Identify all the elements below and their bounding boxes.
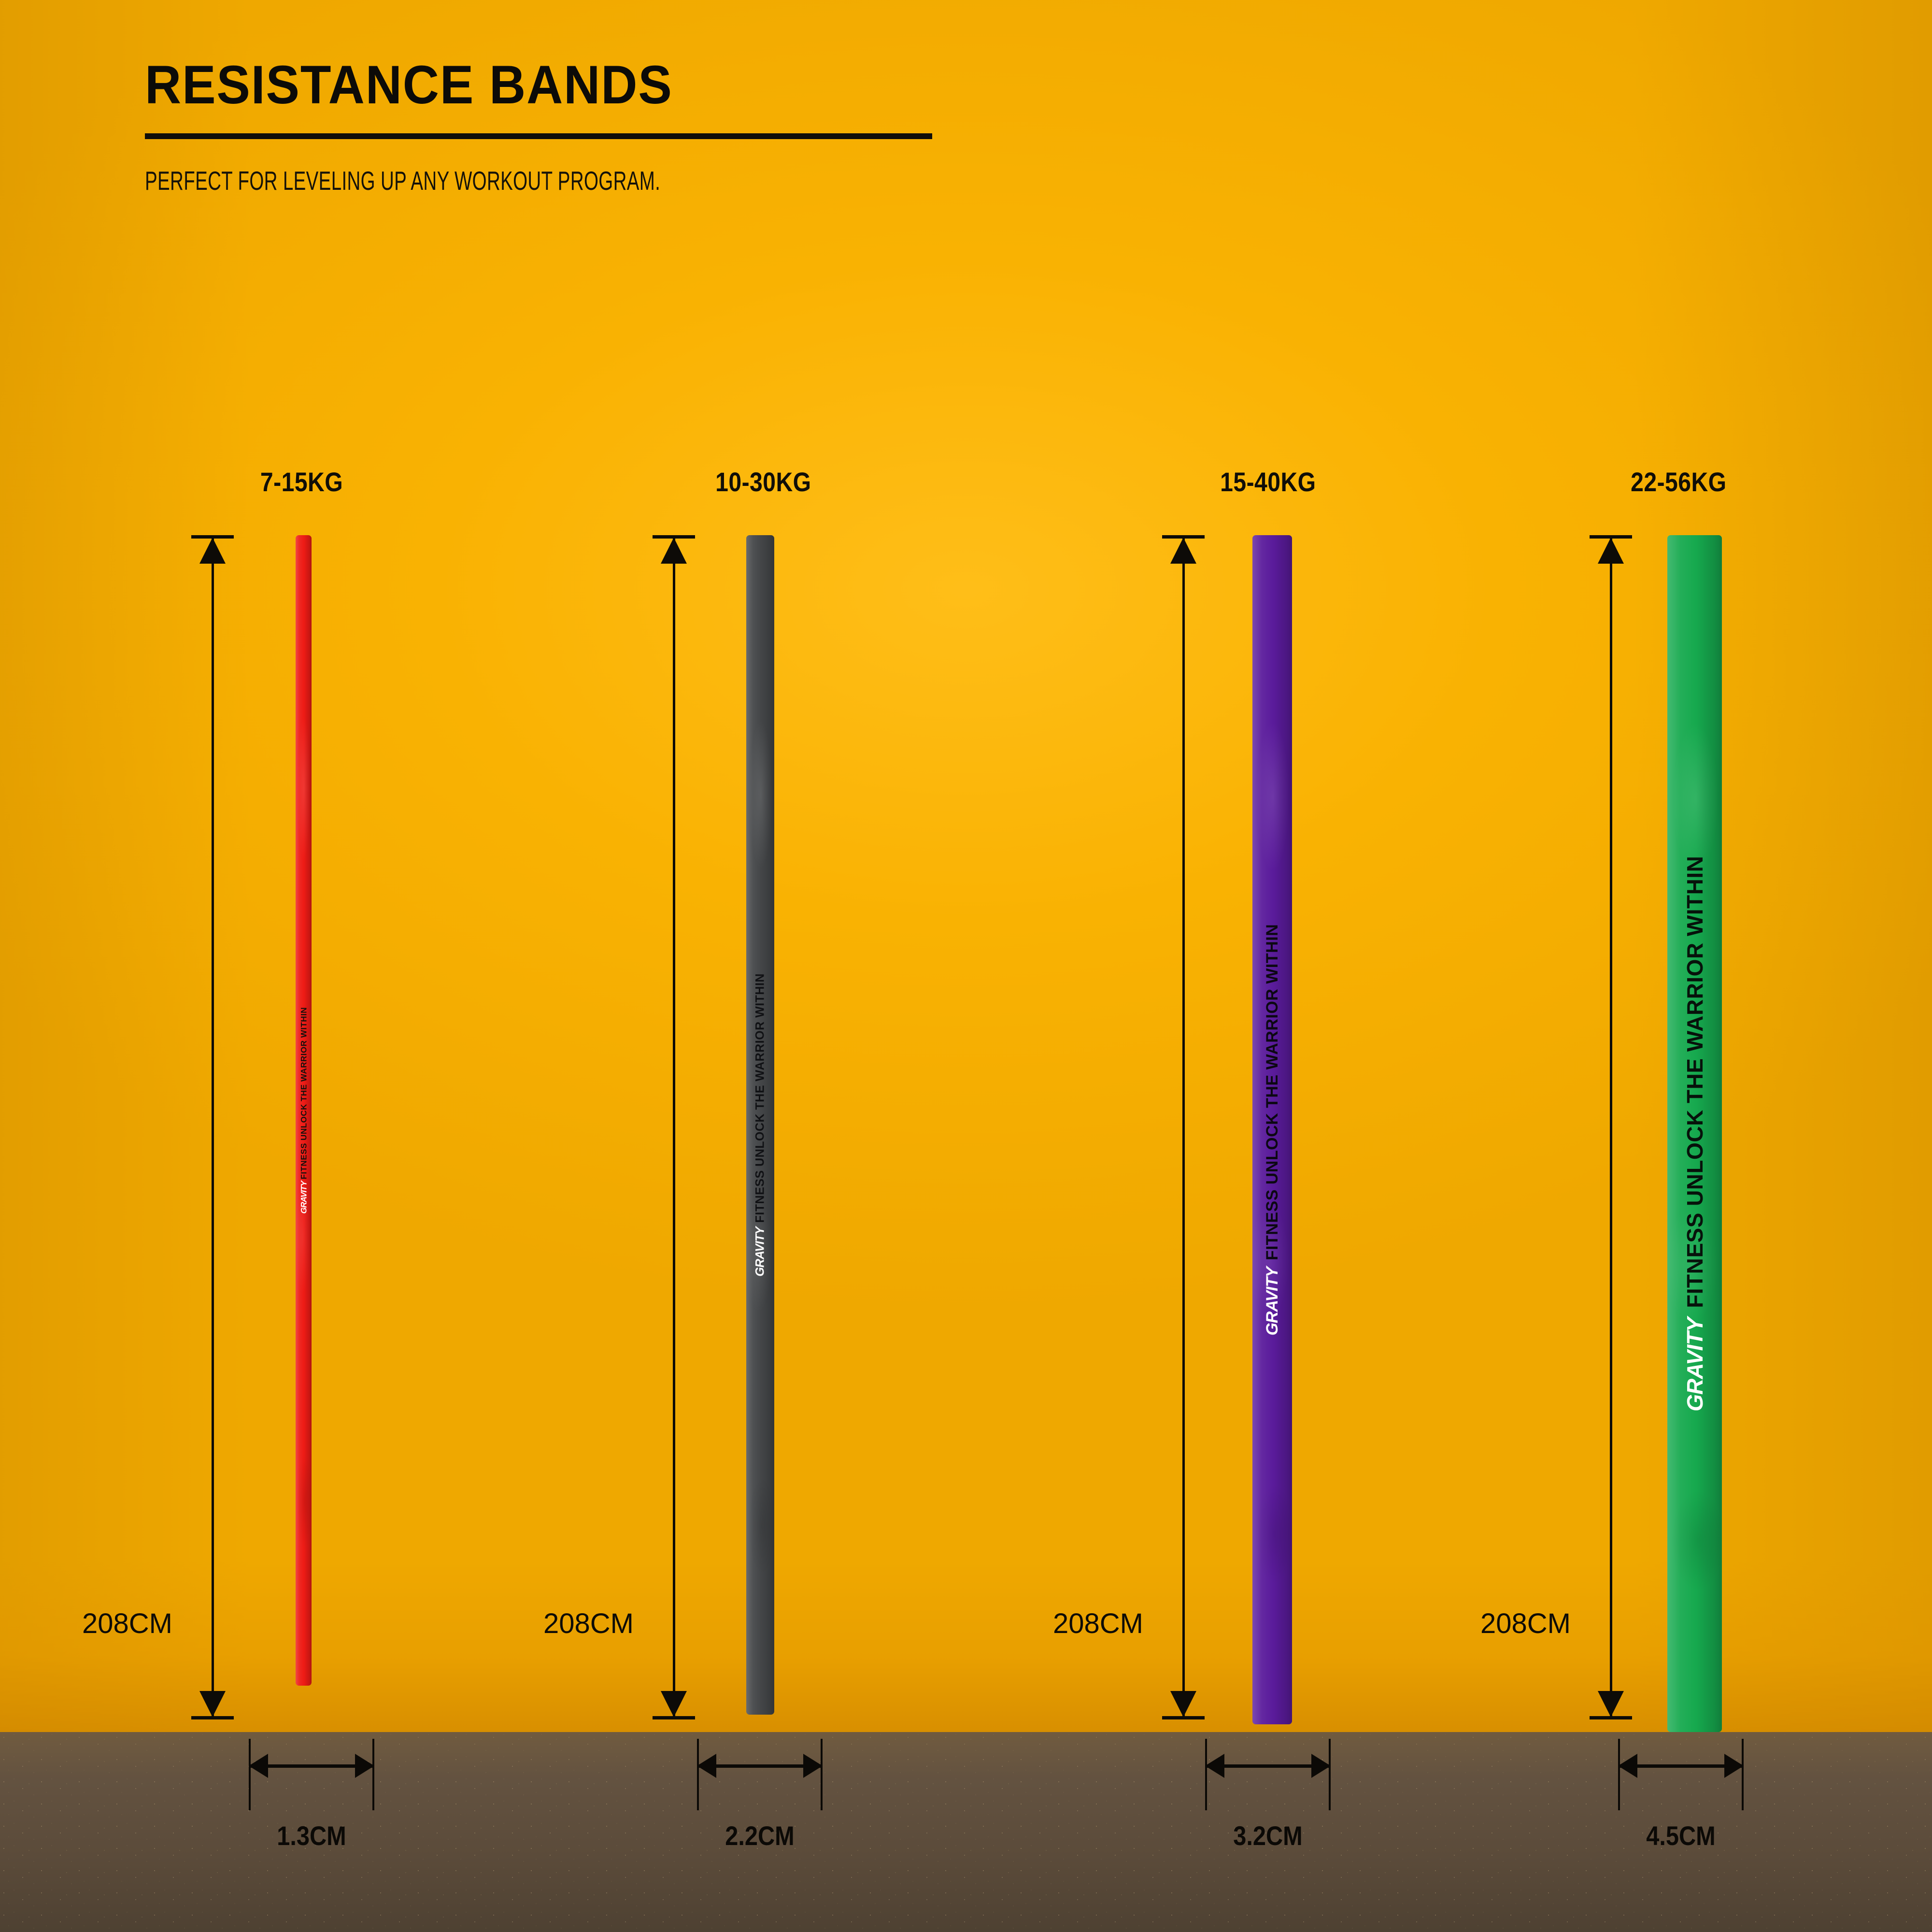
arrow-up-icon (1170, 538, 1196, 564)
band-branding-red-band: GRAVITY FITNESS UNLOCK THE WARRIOR WITHI… (299, 1007, 308, 1214)
arrow-left-icon (697, 1754, 716, 1778)
gravity-logo-text: GRAVITY (1264, 1267, 1280, 1335)
gravity-logo-text: GRAVITY (1684, 1318, 1706, 1411)
width-dimension-grey-band: 2.2CM (697, 1739, 823, 1811)
dimension-line (1610, 535, 1612, 1719)
length-dimension-green-band: 208CM (1589, 535, 1633, 1719)
grey-band[interactable]: GRAVITY FITNESS UNLOCK THE WARRIOR WITHI… (746, 535, 774, 1715)
red-band[interactable]: GRAVITY FITNESS UNLOCK THE WARRIOR WITHI… (296, 535, 312, 1686)
infographic-stage: RESISTANCE BANDS PERFECT FOR LEVELING UP… (0, 0, 1932, 1932)
arrow-left-icon (1618, 1754, 1637, 1778)
dimension-cap-bottom (653, 1716, 695, 1719)
length-dimension-purple-band: 208CM (1162, 535, 1205, 1719)
arrow-left-icon (1205, 1754, 1224, 1778)
length-dimension-grey-band: 208CM (652, 535, 696, 1719)
length-label-green-band: 208CM (1480, 1607, 1571, 1640)
wall-lower-glow (0, 1560, 1932, 1734)
title-divider (145, 133, 932, 139)
page-title: RESISTANCE BANDS (145, 58, 891, 112)
dimension-line (1182, 535, 1185, 1719)
arrow-up-icon (199, 538, 226, 564)
width-dimension-red-band: 1.3CM (249, 1739, 374, 1811)
header-block: RESISTANCE BANDS PERFECT FOR LEVELING UP… (145, 58, 947, 196)
arrow-right-icon (1311, 1754, 1331, 1778)
arrow-down-icon (1170, 1691, 1196, 1717)
dimension-cap-bottom (1162, 1716, 1205, 1719)
green-band[interactable]: GRAVITY FITNESS UNLOCK THE WARRIOR WITHI… (1667, 535, 1722, 1732)
width-label-green-band: 4.5CM (1646, 1820, 1715, 1851)
width-dimension-green-band: 4.5CM (1618, 1739, 1744, 1811)
resistance-label-grey-band: 10-30KG (715, 466, 811, 497)
length-label-purple-band: 208CM (1053, 1607, 1143, 1640)
resistance-label-red-band: 7-15KG (260, 466, 343, 497)
gravity-logo-text: GRAVITY (754, 1227, 767, 1277)
band-branding-grey-band: GRAVITY FITNESS UNLOCK THE WARRIOR WITHI… (754, 973, 767, 1277)
dimension-line (673, 535, 675, 1719)
arrow-up-icon (661, 538, 687, 564)
dimension-cap-bottom (1590, 1716, 1632, 1719)
length-label-grey-band: 208CM (543, 1607, 634, 1640)
length-dimension-red-band: 208CM (191, 535, 234, 1719)
width-label-purple-band: 3.2CM (1233, 1820, 1302, 1851)
purple-band[interactable]: GRAVITY FITNESS UNLOCK THE WARRIOR WITHI… (1252, 535, 1292, 1724)
arrow-down-icon (199, 1691, 226, 1717)
width-dimension-purple-band: 3.2CM (1205, 1739, 1331, 1811)
band-tagline-text: FITNESS UNLOCK THE WARRIOR WITHIN (1684, 856, 1706, 1308)
resistance-label-green-band: 22-56KG (1631, 466, 1726, 497)
arrow-right-icon (1724, 1754, 1744, 1778)
dimension-line (212, 535, 214, 1719)
arrow-up-icon (1598, 538, 1624, 564)
band-tagline-text: FITNESS UNLOCK THE WARRIOR WITHIN (1264, 924, 1280, 1260)
arrow-left-icon (249, 1754, 268, 1778)
arrow-down-icon (1598, 1691, 1624, 1717)
arrow-down-icon (661, 1691, 687, 1717)
gravity-logo-text: GRAVITY (299, 1181, 308, 1214)
arrow-right-icon (355, 1754, 374, 1778)
length-label-red-band: 208CM (82, 1607, 172, 1640)
arrow-right-icon (803, 1754, 823, 1778)
band-branding-purple-band: GRAVITY FITNESS UNLOCK THE WARRIOR WITHI… (1264, 924, 1280, 1335)
band-tagline-text: FITNESS UNLOCK THE WARRIOR WITHIN (299, 1007, 308, 1179)
band-tagline-text: FITNESS UNLOCK THE WARRIOR WITHIN (754, 973, 767, 1222)
page-subtitle: PERFECT FOR LEVELING UP ANY WORKOUT PROG… (145, 165, 706, 196)
band-branding-green-band: GRAVITY FITNESS UNLOCK THE WARRIOR WITHI… (1684, 856, 1706, 1412)
width-label-red-band: 1.3CM (277, 1820, 346, 1851)
dimension-cap-bottom (191, 1716, 234, 1719)
width-label-grey-band: 2.2CM (725, 1820, 794, 1851)
resistance-label-purple-band: 15-40KG (1220, 466, 1316, 497)
